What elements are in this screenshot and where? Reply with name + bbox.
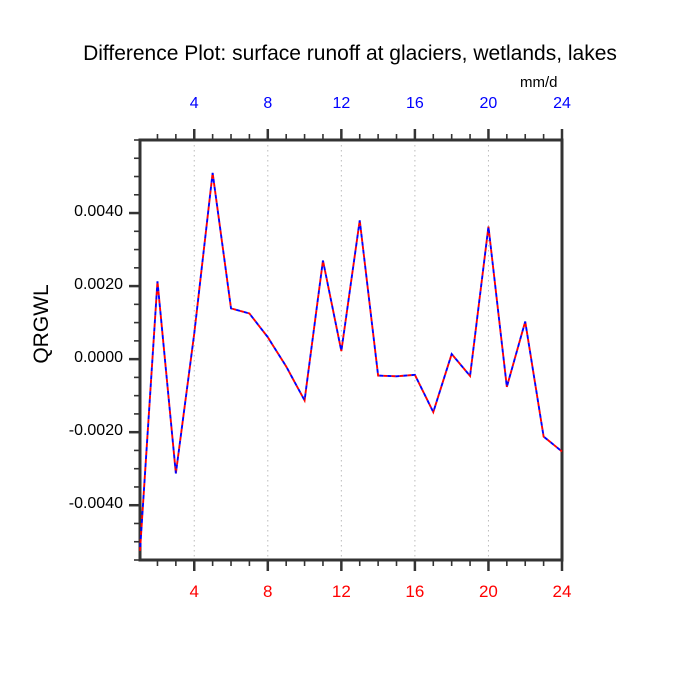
x-tick-label-bottom: 12 <box>311 582 371 602</box>
y-tick-label: 0.0000 <box>0 349 123 367</box>
x-tick-label-top: 20 <box>458 95 518 113</box>
x-tick-label-top: 12 <box>311 95 371 113</box>
data-series <box>140 173 562 551</box>
series-line-blue <box>140 173 562 551</box>
x-tick-label-bottom: 16 <box>385 582 445 602</box>
y-tick-label: 0.0040 <box>0 203 123 221</box>
series-line-red <box>140 173 562 551</box>
x-tick-label-top: 16 <box>385 95 445 113</box>
x-tick-label-top: 24 <box>532 95 592 113</box>
y-tick-label: 0.0020 <box>0 276 123 294</box>
x-tick-label-bottom: 4 <box>164 582 224 602</box>
x-tick-label-bottom: 20 <box>458 582 518 602</box>
axis-frame <box>140 140 562 560</box>
x-tick-label-bottom: 8 <box>238 582 298 602</box>
x-tick-label-top: 8 <box>238 95 298 113</box>
y-tick-label: -0.0040 <box>0 495 123 513</box>
x-tick-label-bottom: 24 <box>532 582 592 602</box>
chart-canvas: Difference Plot: surface runoff at glaci… <box>0 0 700 700</box>
plot-frame <box>140 140 562 560</box>
y-tick-label: -0.0020 <box>0 422 123 440</box>
grid-lines <box>194 140 562 560</box>
x-tick-label-top: 4 <box>164 95 224 113</box>
